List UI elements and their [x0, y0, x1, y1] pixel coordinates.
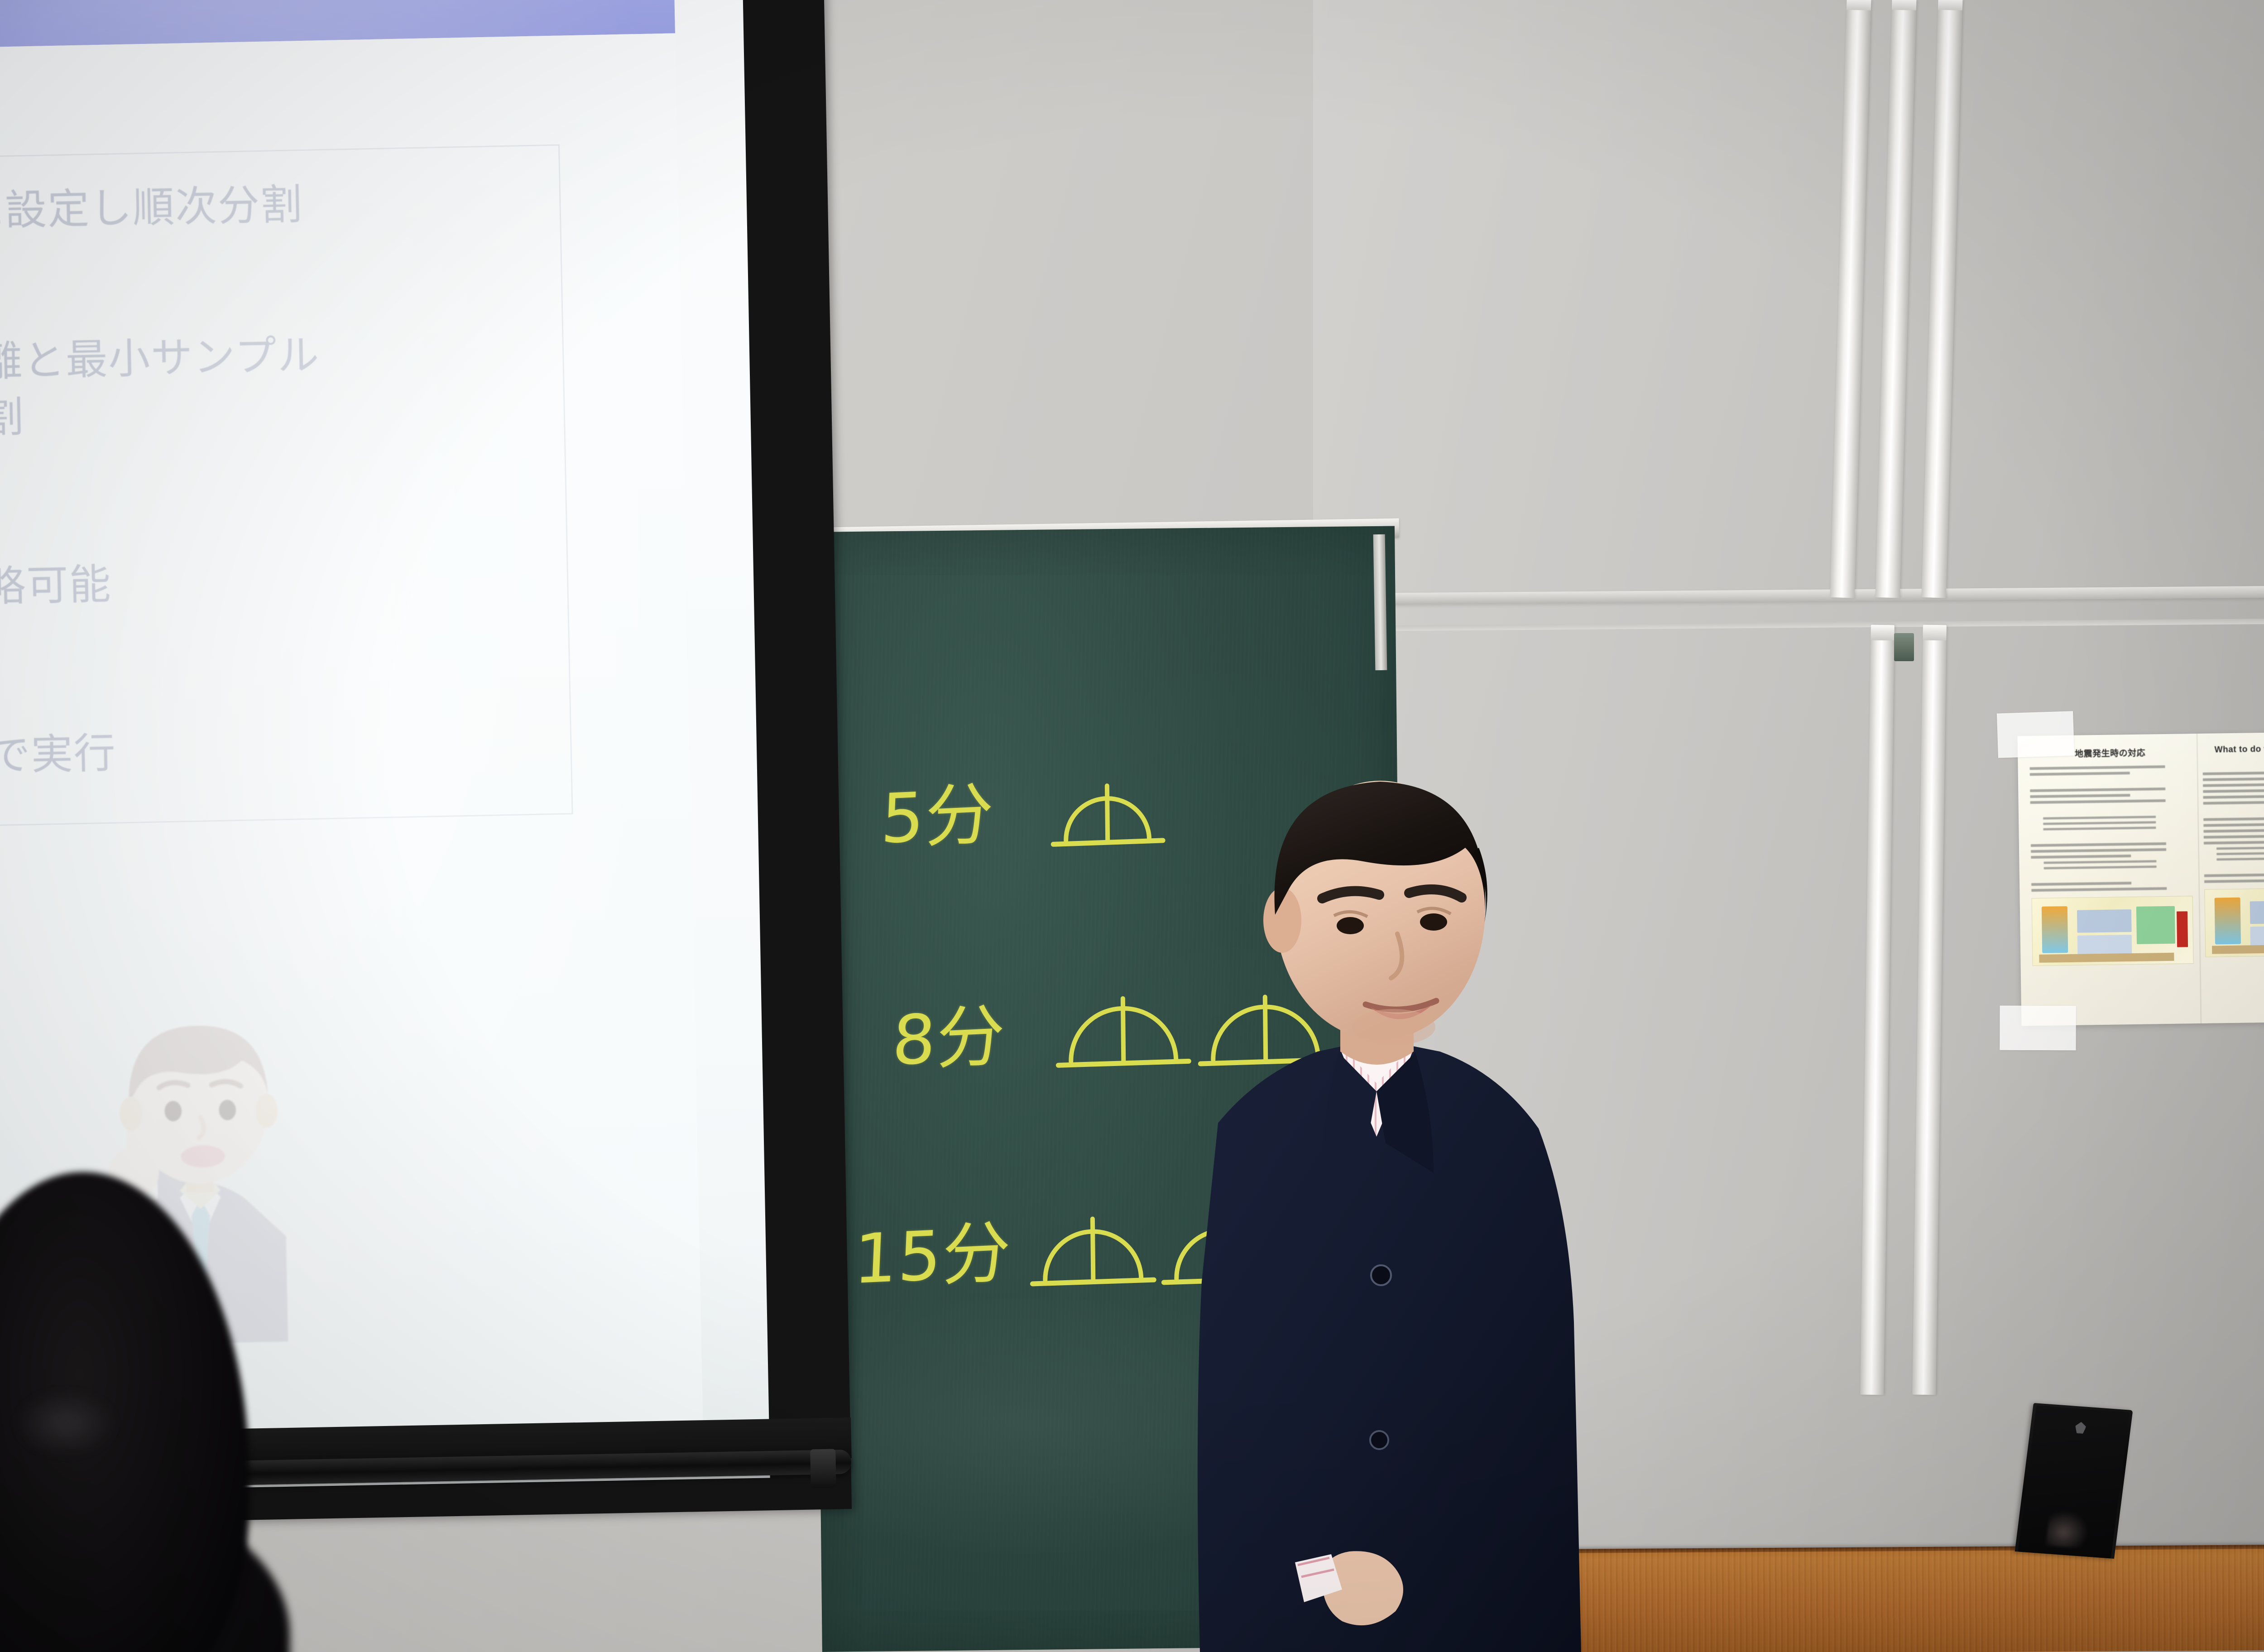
chalk-label-row-1: 5分: [879, 759, 997, 862]
poster-column-japanese: 地震発生時の対応: [2026, 745, 2198, 1021]
pipe-junction-box: [1894, 633, 1914, 661]
presenter-eye-left: [1337, 917, 1364, 934]
earthquake-safety-poster: 地震発生時の対応 What to do: [2018, 731, 2264, 1026]
poster-body-japanese: [2030, 765, 2193, 892]
presenter-chin-shadow: [1352, 1009, 1435, 1045]
pipe-cap: [1892, 0, 1917, 10]
poster-title-japanese: 地震発生時の対応: [2029, 745, 2191, 760]
chalkboard-frame-right: [1373, 534, 1387, 670]
laptop[interactable]: [2015, 1403, 2133, 1559]
presenter: [1005, 716, 1684, 1652]
laptop-reflection: [2046, 1509, 2091, 1548]
chalk-label-row-2: 8分: [891, 981, 1008, 1084]
presenter-eye-right: [1420, 913, 1447, 931]
poster-body-english: [2203, 770, 2264, 883]
poster-title-english: What to do when an Earthquake Occurs: [2202, 743, 2264, 765]
pipe-bracket: [1923, 625, 1946, 641]
projection-screen-bar-end-cap: [810, 1449, 836, 1488]
presenter-jacket-button-upper: [1371, 1265, 1391, 1285]
pipe-bracket: [1871, 625, 1894, 641]
poster-illustration-japanese: [2032, 896, 2194, 966]
photo-scene: 地震発生時の対応 What to do: [0, 0, 2264, 1652]
slide-bullet-text: 値を1に設定し順次分割 内の距離と最小サンプル 適宜分割 して省略可能 するまで…: [0, 169, 690, 785]
audience-head-highlight: [14, 1389, 118, 1457]
tape-bottom-left: [2000, 1006, 2076, 1051]
poster-illustration-english: [2204, 887, 2264, 957]
poster-column-english: What to do when an Earthquake Occurs: [2199, 743, 2264, 1019]
pipe-cap: [1938, 0, 1963, 10]
presenter-jacket-button-lower: [1370, 1431, 1388, 1449]
pipe-cap: [1847, 0, 1871, 10]
chalk-label-row-3: 15分: [852, 1197, 1014, 1303]
